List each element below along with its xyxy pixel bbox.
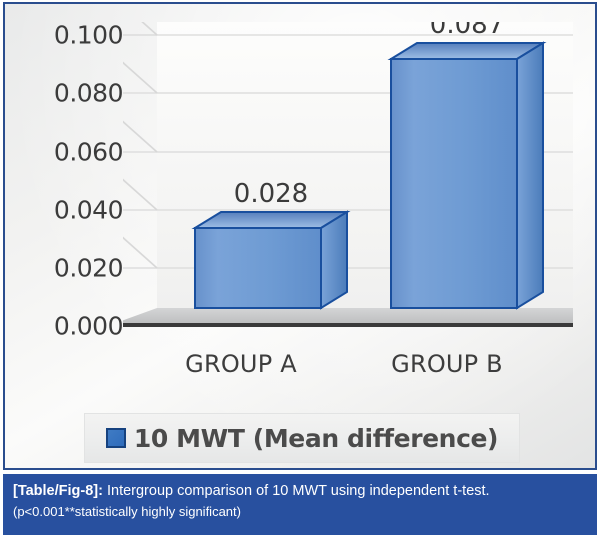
bar-value-label: 0.087 (430, 22, 504, 40)
figure-caption: [Table/Fig-8]: Intergroup comparison of … (3, 474, 597, 535)
bar-side-face (321, 212, 347, 308)
y-axis-tick-labels: 0.100 0.080 0.060 0.040 0.020 0.000 (19, 4, 123, 404)
caption-text: Intergroup comparison of 10 MWT using in… (103, 483, 490, 499)
bar-side-face (517, 43, 543, 308)
chart-floor (123, 308, 573, 324)
bar-group-a[interactable] (195, 212, 347, 308)
caption-tag: [Table/Fig-8]: (13, 483, 103, 499)
perspective-grid-edges (123, 22, 157, 268)
plot-area: 0.028 0.087 (123, 22, 573, 342)
bar-group-b[interactable] (391, 43, 543, 308)
y-tick-label: 0.080 (54, 79, 123, 108)
x-tick-label-group-b: GROUP B (391, 350, 503, 378)
figure-container: 0.100 0.080 0.060 0.040 0.020 0.000 (0, 0, 600, 537)
bar-front-face (195, 228, 321, 308)
chart-panel: 0.100 0.080 0.060 0.040 0.020 0.000 (3, 2, 597, 470)
y-tick-label: 0.060 (54, 138, 123, 167)
legend-swatch-icon (106, 428, 126, 448)
y-tick-label: 0.020 (54, 254, 123, 283)
bar-front-face (391, 59, 517, 308)
y-tick-label: 0.000 (54, 312, 123, 341)
bar-value-label: 0.028 (234, 179, 308, 209)
caption-line-1: [Table/Fig-8]: Intergroup comparison of … (13, 481, 587, 502)
x-axis-tick-labels: GROUP A GROUP B (123, 350, 573, 390)
x-tick-label-group-a: GROUP A (185, 350, 297, 378)
legend-label: 10 MWT (Mean difference) (134, 424, 498, 453)
y-tick-label: 0.040 (54, 196, 123, 225)
chart-legend: 10 MWT (Mean difference) (84, 413, 520, 463)
y-tick-label: 0.100 (54, 21, 123, 50)
plot-svg: 0.028 0.087 (123, 22, 573, 342)
caption-line-2: (p<0.001**statistically highly significa… (13, 502, 587, 521)
